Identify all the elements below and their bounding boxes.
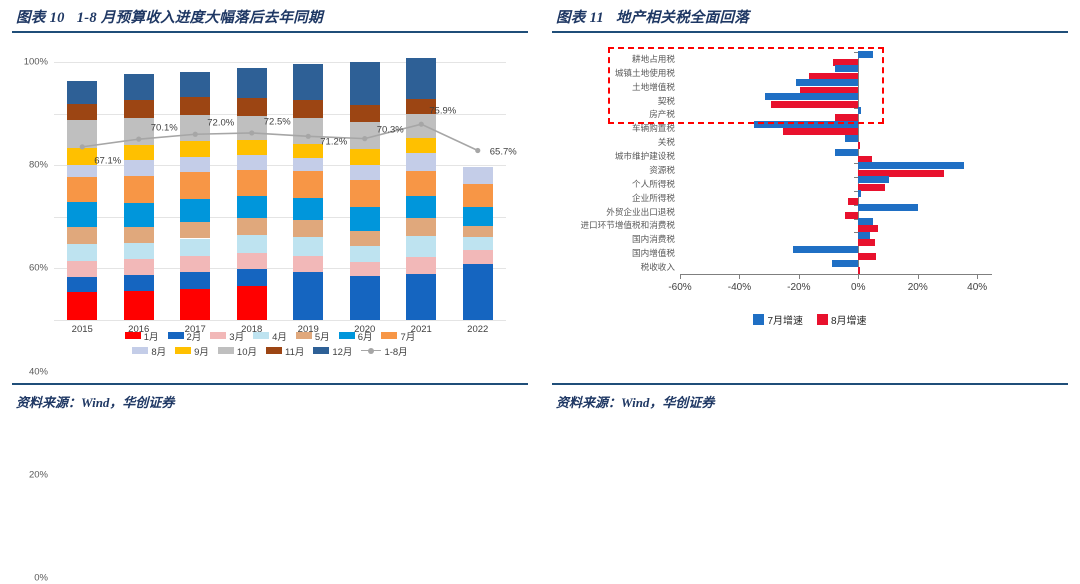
x-axis-tick-label: 0% [851, 282, 865, 293]
legend-item-line[interactable]: 1-8月 [361, 344, 407, 358]
figure-11-label: 图表 [556, 10, 586, 26]
horizontal-bar [832, 260, 859, 267]
legend-line-marker-icon [361, 347, 381, 355]
line-point-label: 70.1% [151, 123, 178, 134]
legend-swatch-icon [175, 347, 191, 354]
legend-item-label: 10月 [237, 344, 257, 358]
legend-swatch-icon [253, 332, 269, 339]
horizontal-bar [858, 218, 873, 225]
legend-swatch-icon [381, 332, 397, 339]
category-label: 耕地占用税 [632, 53, 675, 65]
y-axis-tick-label: 20% [29, 469, 48, 480]
legend-item[interactable]: 3月 [210, 329, 244, 343]
y-gridline: 0% [54, 320, 506, 321]
horizontal-bar [858, 267, 859, 274]
category-label: 税收收入 [641, 261, 675, 273]
legend-item[interactable]: 7月增速 [753, 312, 803, 327]
figure-pair-page: 图表101-8 月预算收入进度大幅落后去年同期 0%20%40%60%80%10… [0, 0, 1080, 421]
legend-item-label: 3月 [229, 329, 244, 343]
legend-item-label: 9月 [194, 344, 209, 358]
legend-item-label: 5月 [315, 329, 330, 343]
legend-item-label: 6月 [358, 329, 373, 343]
legend-item[interactable]: 8月 [132, 344, 166, 358]
legend-swatch-icon [339, 332, 355, 339]
y-axis-tick-label: 0% [34, 573, 48, 584]
horizontal-bar [858, 204, 917, 211]
line-point-label: 75.9% [429, 106, 456, 117]
category-label: 资源税 [649, 164, 675, 176]
legend-item[interactable]: 4月 [253, 329, 287, 343]
horizontal-bar [858, 253, 876, 260]
category-label: 企业所得税 [632, 192, 675, 204]
x-axis-tick [858, 274, 859, 279]
line-point-label: 67.1% [94, 155, 121, 166]
legend-swatch-icon [168, 332, 184, 339]
legend-item-label: 7月增速 [767, 312, 803, 327]
horizontal-bar [858, 162, 963, 169]
property-tax-legend: 7月增速8月增速 [552, 312, 1068, 327]
legend-item-label: 1-8月 [384, 344, 407, 358]
legend-item-label: 8月增速 [831, 312, 867, 327]
legend-item-label: 7月 [400, 329, 415, 343]
budget-progress-legend: 1月2月3月4月5月6月7月8月9月10月11月12月1-8月 [12, 328, 528, 358]
x-axis-tick-label: 20% [908, 282, 928, 293]
horizontal-bar [858, 107, 861, 114]
legend-item[interactable]: 5月 [296, 329, 330, 343]
legend-item-label: 4月 [272, 329, 287, 343]
horizontal-bar [796, 79, 858, 86]
x-axis-tick [977, 274, 978, 279]
line-point-label: 71.2% [320, 137, 347, 148]
legend-item-label: 1月 [144, 329, 159, 343]
horizontal-bar [754, 121, 858, 128]
budget-progress-plot: 0%20%40%60%80%100%2015201620172018201920… [54, 62, 506, 320]
legend-item[interactable]: 11月 [266, 344, 304, 358]
x-axis-tick-label: -20% [787, 282, 810, 293]
figure-10-label: 图表 [16, 10, 46, 26]
figure-panel-10: 图表101-8 月预算收入进度大幅落后去年同期 0%20%40%60%80%10… [0, 0, 540, 421]
figure-10-bottom-rule [12, 383, 528, 385]
property-tax-plot: 耕地占用税城镇土地使用税土地增值税契税房产税车辆购置税关税城市维护建设税资源税个… [680, 52, 992, 274]
figure-panel-11: 图表11地产相关税全面回落 耕地占用税城镇土地使用税土地增值税契税房产税车辆购置… [540, 0, 1080, 421]
x-axis-tick [799, 274, 800, 279]
horizontal-bar [845, 212, 858, 219]
line-point-label: 70.3% [377, 124, 404, 135]
horizontal-bar [858, 176, 889, 183]
legend-swatch-icon [313, 347, 329, 354]
y-axis-tick-label: 80% [29, 160, 48, 171]
legend-item[interactable]: 6月 [339, 329, 373, 343]
category-label: 契税 [658, 95, 675, 107]
horizontal-bar [858, 184, 885, 191]
legend-swatch-icon [817, 314, 828, 325]
x-axis-tick [918, 274, 919, 279]
figure-10-source: 资料来源：Wind，华创证券 [16, 392, 174, 411]
figure-10-number: 10 [46, 10, 71, 26]
legend-item-label: 8月 [151, 344, 166, 358]
legend-item[interactable]: 1月 [125, 329, 159, 343]
category-label: 国内消费税 [632, 233, 675, 245]
category-label: 进口环节增值税和消费税 [580, 219, 675, 231]
legend-swatch-icon [266, 347, 282, 354]
figure-11-number: 11 [586, 10, 610, 26]
legend-item[interactable]: 8月增速 [817, 312, 867, 327]
horizontal-bar [848, 198, 858, 205]
legend-swatch-icon [210, 332, 226, 339]
legend-item-label: 11月 [285, 344, 304, 358]
category-label: 城镇土地使用税 [615, 67, 675, 79]
line-point-label: 72.5% [264, 116, 291, 127]
horizontal-bar [858, 142, 859, 149]
figure-11-caption: 地产相关税全面回落 [610, 10, 749, 26]
legend-item[interactable]: 12月 [313, 344, 352, 358]
figure-11-top-rule [552, 31, 1068, 33]
legend-row: 1月2月3月4月5月6月7月 [12, 328, 528, 343]
legend-swatch-icon [753, 314, 764, 325]
x-axis-line [680, 274, 992, 275]
category-label: 土地增值税 [632, 81, 675, 93]
horizontal-bar [845, 135, 858, 142]
legend-swatch-icon [125, 332, 141, 339]
horizontal-bar [771, 101, 859, 108]
category-label: 外贸企业出口退税 [606, 206, 675, 218]
category-label: 房产税 [649, 108, 675, 120]
category-label: 关税 [658, 136, 675, 148]
figure-10-title: 图表101-8 月预算收入进度大幅落后去年同期 [16, 6, 528, 27]
figure-11-source: 资料来源：Wind，华创证券 [556, 392, 714, 411]
x-axis-tick [680, 274, 681, 279]
legend-item[interactable]: 10月 [218, 344, 257, 358]
x-axis-tick-label: -60% [668, 282, 691, 293]
horizontal-bar [858, 232, 870, 239]
category-label: 国内增值税 [632, 247, 675, 259]
figure-11-bottom-rule [552, 383, 1068, 385]
x-axis-tick-label: 40% [967, 282, 987, 293]
legend-item[interactable]: 9月 [175, 344, 209, 358]
horizontal-bar [765, 93, 859, 100]
legend-swatch-icon [296, 332, 312, 339]
figure-11-title: 图表11地产相关税全面回落 [556, 6, 1068, 27]
line-point-label: 72.0% [207, 118, 234, 129]
legend-swatch-icon [218, 347, 234, 354]
y-axis-tick-label: 40% [29, 366, 48, 377]
legend-item-label: 12月 [332, 344, 352, 358]
figure-10-top-rule [12, 31, 528, 33]
horizontal-bar [858, 190, 860, 197]
progress-line-series [54, 62, 506, 320]
legend-swatch-icon [132, 347, 148, 354]
horizontal-bar [793, 246, 858, 253]
line-point-label: 65.7% [490, 147, 517, 158]
legend-item-label: 2月 [187, 329, 202, 343]
horizontal-bar [858, 51, 873, 58]
legend-item[interactable]: 2月 [168, 329, 202, 343]
y-axis-tick-label: 100% [24, 57, 48, 68]
figure-10-caption: 1-8 月预算收入进度大幅落后去年同期 [71, 10, 323, 26]
budget-progress-chart: 0%20%40%60%80%100%2015201620172018201920… [12, 40, 528, 375]
horizontal-bar [835, 149, 859, 156]
category-label: 车辆购置税 [632, 122, 675, 134]
y-axis-tick-label: 60% [29, 263, 48, 274]
legend-item[interactable]: 7月 [381, 329, 415, 343]
horizontal-bar [858, 239, 874, 246]
x-axis-tick-label: -40% [728, 282, 751, 293]
legend-row: 8月9月10月11月12月1-8月 [12, 343, 528, 358]
category-label: 城市维护建设税 [615, 150, 675, 162]
property-tax-chart: 耕地占用税城镇土地使用税土地增值税契税房产税车辆购置税关税城市维护建设税资源税个… [552, 40, 1068, 375]
horizontal-bar [835, 65, 859, 72]
category-label: 个人所得税 [632, 178, 675, 190]
x-axis-tick [739, 274, 740, 279]
